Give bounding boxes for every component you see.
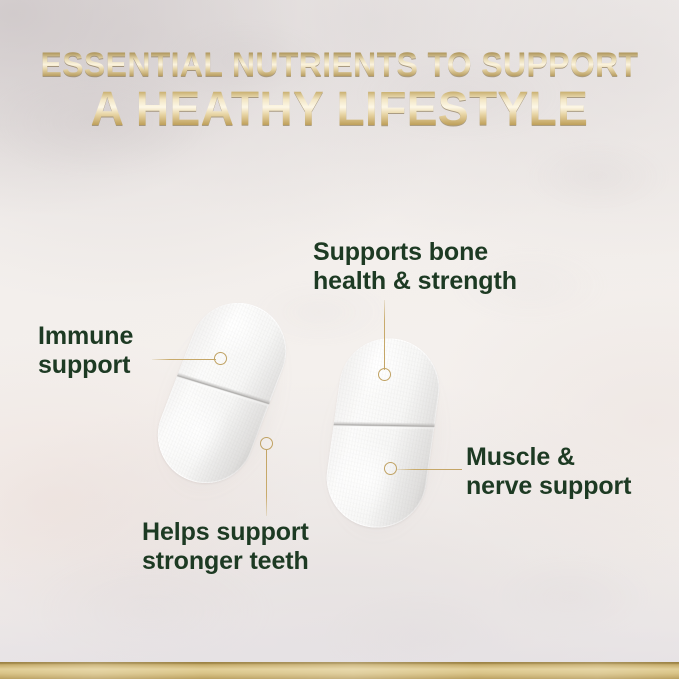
callout-leader-line-immune (152, 359, 216, 360)
callout-ring-marker-immune (214, 352, 227, 365)
product-infographic: ESSENTIAL NUTRIENTS TO SUPPORT A HEATHY … (0, 0, 679, 679)
footer-gold-bar-sheen (0, 662, 679, 679)
callout-leader-line-bone (384, 300, 385, 370)
callout-ring-marker-muscle (384, 462, 397, 475)
callout-label-muscle: Muscle & nerve support (466, 443, 631, 501)
callout-label-bone: Supports bone health & strength (313, 238, 517, 296)
footer-gold-bar (0, 662, 679, 679)
callout-leader-line-teeth (266, 450, 267, 516)
callout-leader-line-muscle (396, 469, 462, 470)
callout-ring-marker-bone (378, 368, 391, 381)
callout-label-teeth: Helps support stronger teeth (142, 518, 309, 576)
callout-label-immune: Immune support (38, 322, 133, 380)
callout-ring-marker-teeth (260, 437, 273, 450)
